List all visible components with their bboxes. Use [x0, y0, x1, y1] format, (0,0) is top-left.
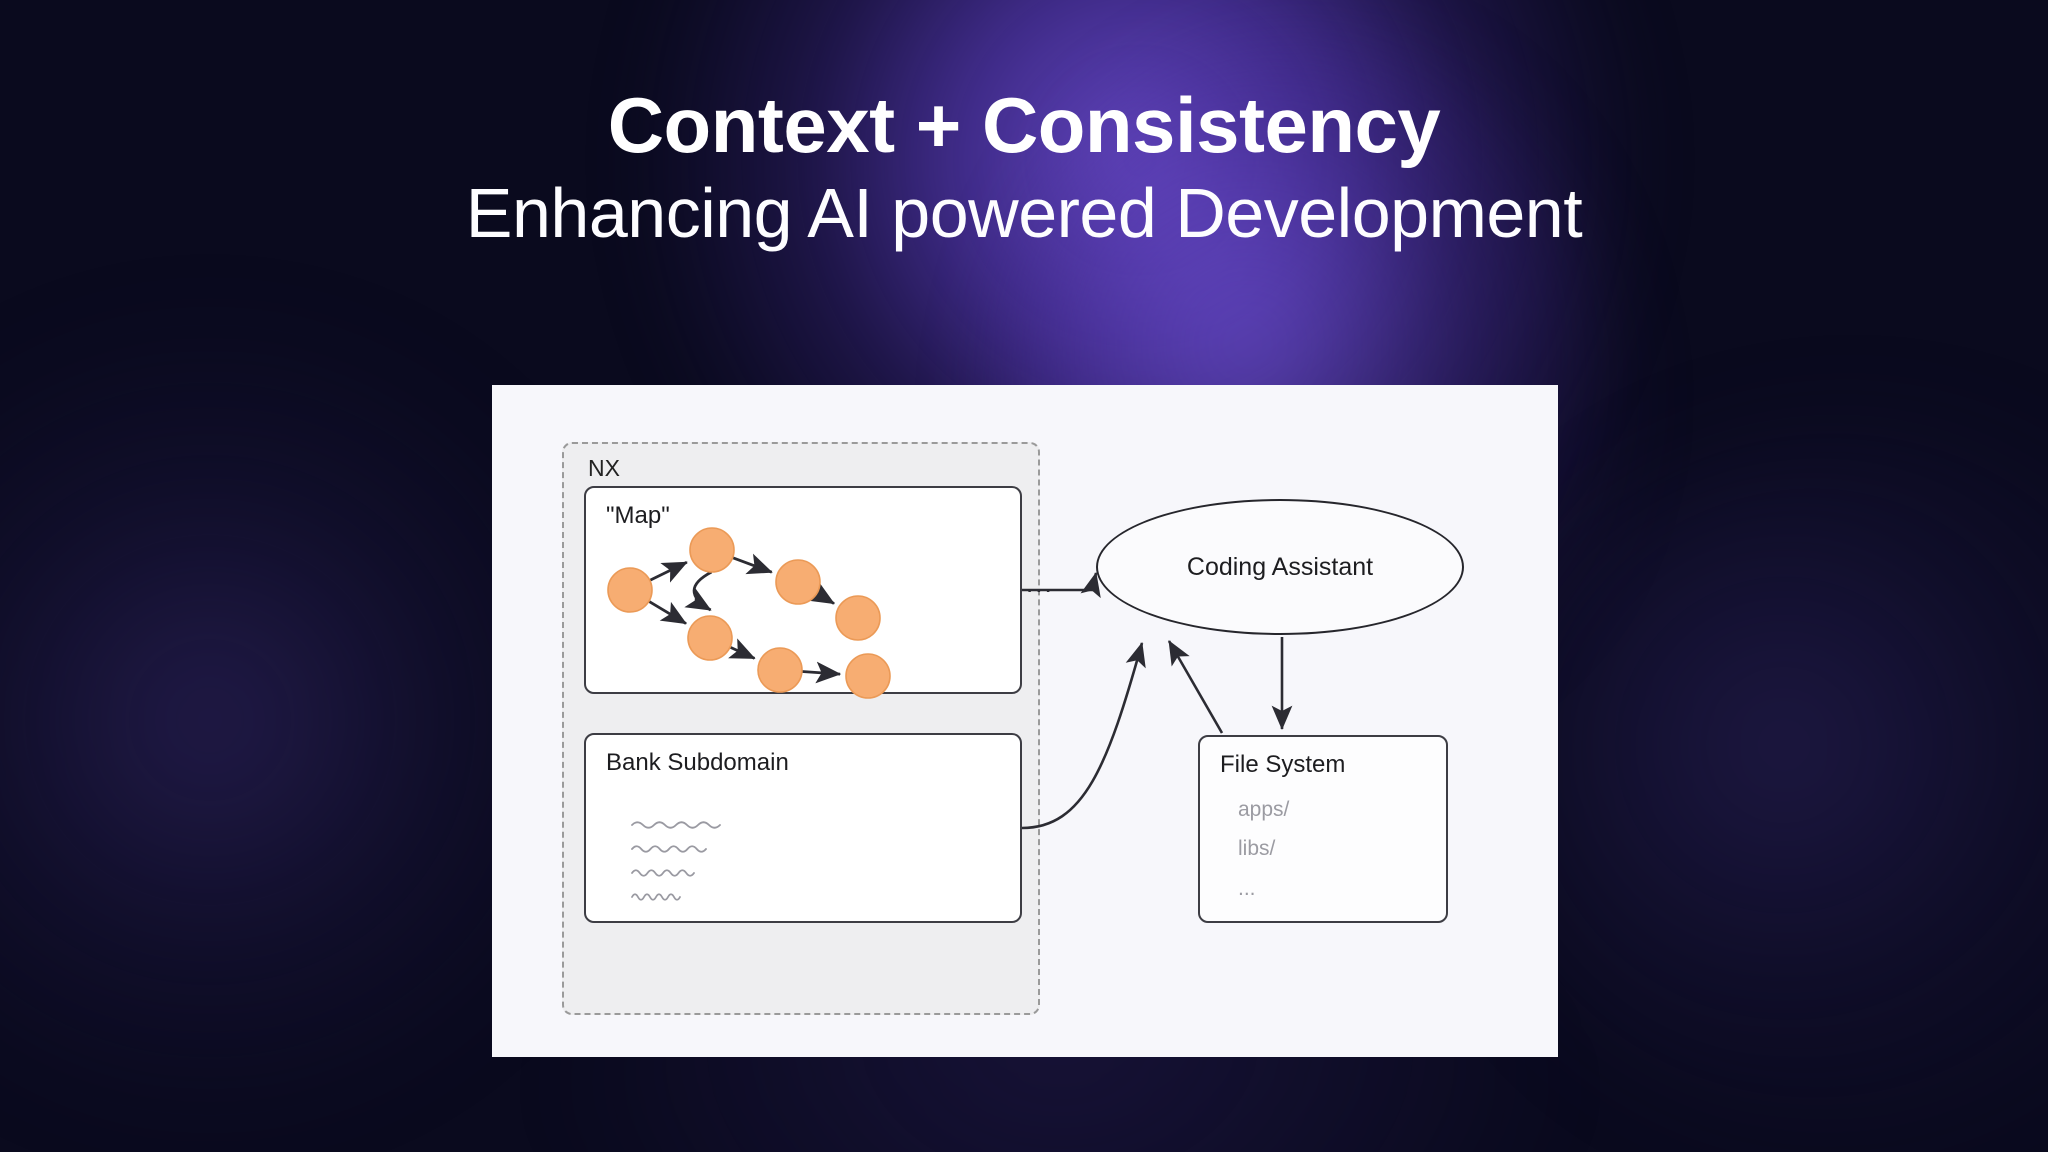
squiggle-line	[632, 894, 680, 900]
map-graph-edge	[733, 558, 772, 573]
map-graph-edge	[694, 572, 711, 610]
connector-filesystem-to-assistant	[1169, 641, 1222, 733]
diagram-panel: NX "Map" Bank Subdomain File System apps…	[492, 385, 1558, 1057]
squiggle-line	[632, 846, 706, 852]
connector-bank-to-assistant	[1022, 643, 1142, 828]
map-graph-node	[846, 654, 890, 698]
bank-subdomain-squiggle-lines	[632, 822, 720, 900]
map-graph-node	[776, 560, 820, 604]
map-dependency-graph	[608, 528, 890, 698]
map-graph-edge	[730, 647, 755, 658]
slide-canvas: Context + Consistency Enhancing AI power…	[0, 0, 2048, 1152]
slide-title: Context + Consistency	[0, 86, 2048, 166]
map-graph-edge	[650, 562, 687, 580]
background-glow-right	[1480, 430, 2048, 1130]
squiggle-line	[632, 870, 694, 876]
map-graph-node	[758, 648, 802, 692]
map-graph-node	[690, 528, 734, 572]
connector-map-to-assistant	[1022, 573, 1096, 590]
map-graph-node	[608, 568, 652, 612]
slide-subtitle: Enhancing AI powered Development	[0, 172, 2048, 255]
map-graph-node	[836, 596, 880, 640]
map-graph-node	[688, 616, 732, 660]
map-graph-edge	[649, 601, 686, 623]
map-graph-edge	[802, 671, 840, 674]
map-graph-nodes	[608, 528, 890, 698]
title-block: Context + Consistency Enhancing AI power…	[0, 86, 2048, 254]
squiggle-line	[632, 822, 720, 828]
map-graph-edge	[817, 593, 834, 603]
diagram-vector-layer	[492, 385, 1558, 1057]
